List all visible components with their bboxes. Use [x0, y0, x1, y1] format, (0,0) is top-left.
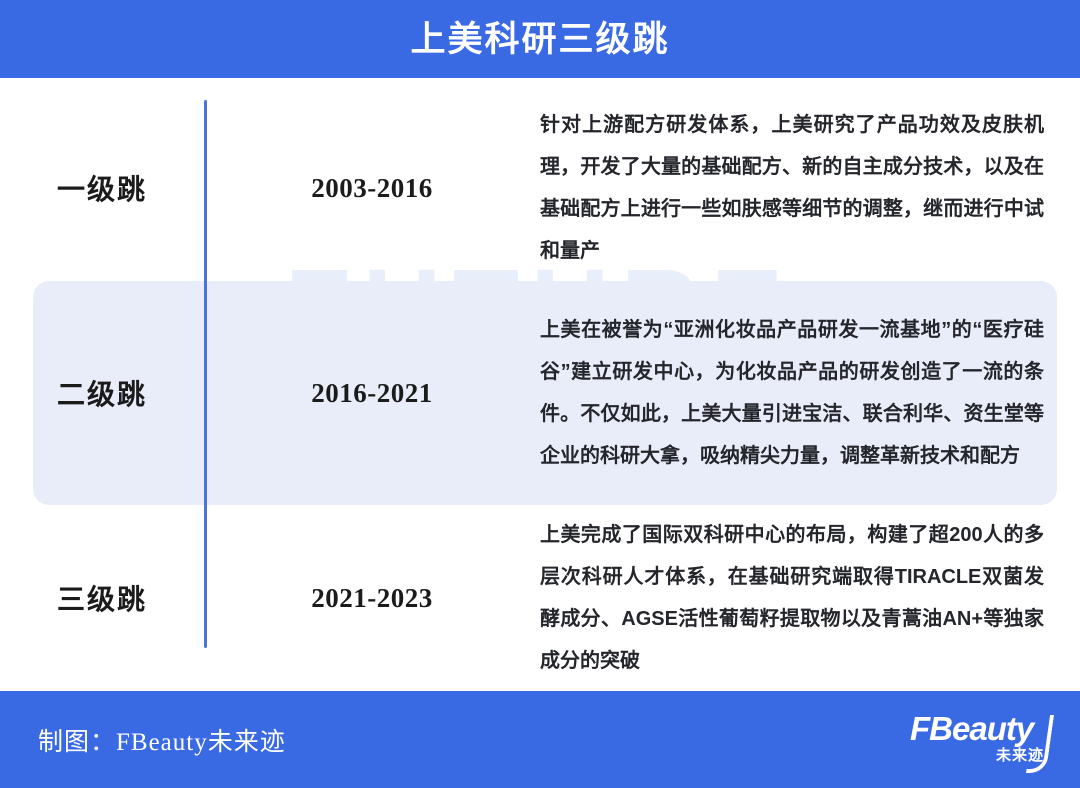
- description-text: 针对上游配方研发体系，上美研究了产品功效及皮肤机理，开发了大量的基础配方、新的自…: [540, 104, 1080, 272]
- stage-label: 三级跳: [0, 578, 204, 618]
- table-row: 二级跳 2016-2021 上美在被誉为“亚洲化妆品产品研发一流基地”的“医疗硅…: [0, 281, 1080, 505]
- stage-label: 二级跳: [0, 373, 204, 413]
- period-label: 2016-2021: [204, 378, 540, 409]
- header-bar: 上美科研三级跳: [0, 0, 1080, 78]
- period-label: 2003-2016: [204, 173, 540, 204]
- table-row: 三级跳 2021-2023 上美完成了国际双科研中心的布局，构建了超200人的多…: [0, 505, 1080, 691]
- period-label: 2021-2023: [204, 583, 540, 614]
- page-title: 上美科研三级跳: [410, 22, 669, 57]
- description-text: 上美在被誉为“亚洲化妆品产品研发一流基地”的“医疗硅谷”建立研发中心，为化妆品产…: [540, 309, 1080, 477]
- fbeauty-logo: FBeauty 未来迹: [910, 709, 1050, 771]
- logo-wordmark: FBeauty: [910, 711, 1050, 747]
- content-area: FUTURE BEAUTY 一级跳 2003-2016 针对上游配方研发体系，上…: [0, 78, 1080, 691]
- infographic-page: 上美科研三级跳 FUTURE BEAUTY 一级跳 2003-2016 针对上游…: [0, 0, 1080, 788]
- timeline-table: 一级跳 2003-2016 针对上游配方研发体系，上美研究了产品功效及皮肤机理，…: [0, 78, 1080, 691]
- stage-label: 一级跳: [0, 168, 204, 208]
- footer-bar: 制图：FBeauty未来迹 FBeauty 未来迹: [0, 691, 1080, 788]
- table-row: 一级跳 2003-2016 针对上游配方研发体系，上美研究了产品功效及皮肤机理，…: [0, 95, 1080, 281]
- credit-text: 制图：FBeauty未来迹: [38, 722, 286, 758]
- description-text: 上美完成了国际双科研中心的布局，构建了超200人的多层次科研人才体系，在基础研究…: [540, 514, 1080, 682]
